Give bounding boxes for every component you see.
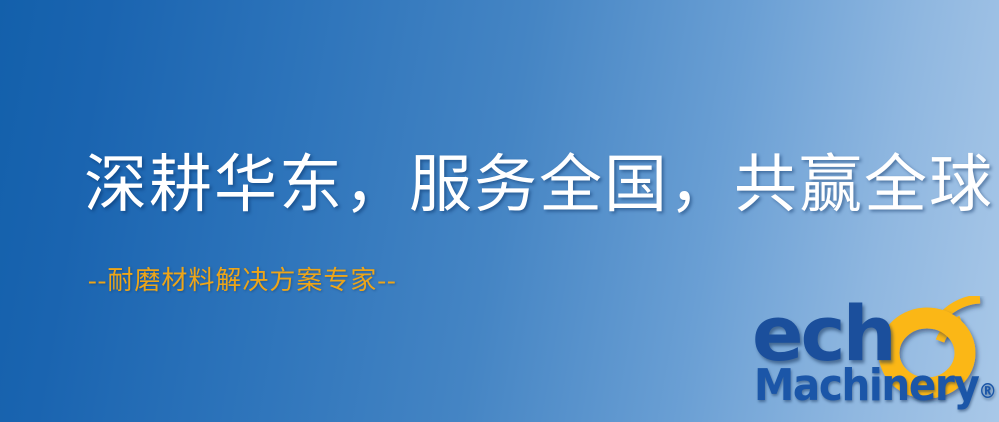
logo-tagline-machinery: Machinery®	[754, 364, 997, 408]
logo-tagline-text: Machinery	[754, 360, 978, 411]
registered-trademark-icon: ®	[978, 379, 996, 403]
company-logo[interactable]: ech Machinery®	[748, 296, 999, 422]
banner-subtitle: --耐磨材料解决方案专家--	[88, 267, 397, 296]
promo-banner: 深耕华东，服务全国，共赢全球 --耐磨材料解决方案专家-- ech Machin…	[0, 0, 999, 422]
banner-headline: 深耕华东，服务全国，共赢全球	[84, 152, 994, 218]
